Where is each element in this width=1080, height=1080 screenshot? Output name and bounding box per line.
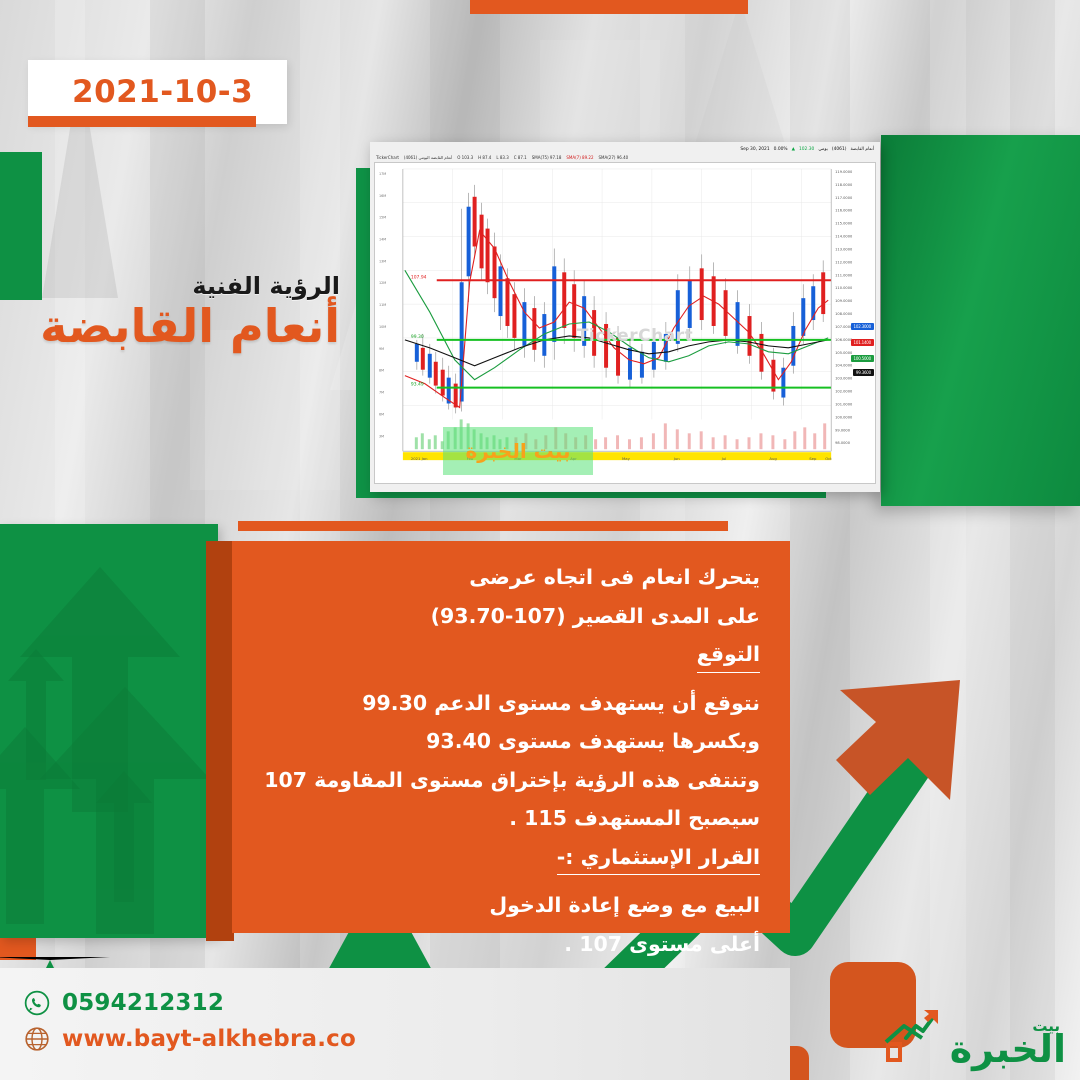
analysis-line: يتحرك انعام فى اتجاه عرضى <box>262 567 760 588</box>
svg-text:117.0000: 117.0000 <box>835 196 853 200</box>
svg-text:118.0000: 118.0000 <box>835 183 853 187</box>
forecast-line: نتوقع أن يستهدف مستوى الدعم 99.30 <box>262 693 760 714</box>
forecast-line: وبكسرها يستهدف مستوى 93.40 <box>262 731 760 752</box>
chart-sma27-value: SMA(27) 96.40 <box>599 155 629 160</box>
svg-text:6M: 6M <box>379 412 384 416</box>
svg-text:Aug: Aug <box>769 456 777 461</box>
svg-text:7M: 7M <box>379 391 384 395</box>
bayt-alkhebra-chart-watermark: بيت الخبرة <box>443 427 593 475</box>
svg-text:112.0000: 112.0000 <box>835 260 853 264</box>
svg-text:101.0000: 101.0000 <box>835 402 853 406</box>
svg-text:10M: 10M <box>379 325 386 329</box>
date-badge-label: 2021-10-3 <box>72 74 253 110</box>
chart-high-value: H 87.4 <box>478 155 491 160</box>
analysis-line: على المدى القصير (107-93.70) <box>262 606 760 627</box>
bg-rectangle <box>190 330 340 490</box>
svg-text:104.0000: 104.0000 <box>835 364 853 368</box>
up-arrow-decoration <box>8 646 64 786</box>
chart-source-label: TickerChart <box>376 155 399 160</box>
headline-subtitle: الرؤية الفنية <box>40 272 340 300</box>
resistance-value-label: 107.94 <box>411 274 427 280</box>
up-arrow-decoration <box>96 768 152 908</box>
page-title: أنعام القابضة <box>40 302 340 352</box>
chart-last-price: 102.30 <box>799 147 814 152</box>
svg-text:11M: 11M <box>379 303 386 307</box>
globe-icon <box>24 1026 50 1052</box>
price-flag-sma27: 100.5000 <box>851 355 875 362</box>
svg-text:100.0000: 100.0000 <box>835 415 853 419</box>
svg-text:102.0000: 102.0000 <box>835 390 853 394</box>
svg-text:113.0000: 113.0000 <box>835 247 853 251</box>
svg-text:Jul: Jul <box>721 456 727 461</box>
chart-change-pct: 0.00% <box>774 147 788 152</box>
whatsapp-icon <box>24 990 50 1016</box>
svg-text:16M: 16M <box>379 194 386 198</box>
svg-text:115.0000: 115.0000 <box>835 222 853 226</box>
logo-text-block: بيت الخبرة <box>950 1020 1066 1066</box>
decision-line: البيع مع وضع إعادة الدخول <box>262 895 760 916</box>
support-1-value-label: 99.30 <box>411 334 424 340</box>
svg-text:Oct: Oct <box>825 456 832 461</box>
svg-text:2021 Jan: 2021 Jan <box>411 456 428 461</box>
bg-triangle <box>690 0 790 160</box>
svg-text:111.0000: 111.0000 <box>835 273 853 277</box>
svg-text:15M: 15M <box>379 216 386 220</box>
forecast-line: سيصبح المستهدف 115 . <box>262 808 760 829</box>
svg-text:116.0000: 116.0000 <box>835 209 853 213</box>
chart-plot-area: 107.94 99.30 93.49 <box>374 162 876 484</box>
contact-website-row[interactable]: www.bayt-alkhebra.co <box>24 1026 356 1052</box>
phone-number: 0594212312 <box>62 990 224 1016</box>
decision-header: القرار الإستثماري :- <box>557 847 760 876</box>
svg-text:110.0000: 110.0000 <box>835 286 853 290</box>
price-flag-sma75: 99.3600 <box>853 369 874 376</box>
date-badge-box: 2021-10-3 <box>28 60 287 124</box>
decision-header-row: القرار الإستثماري :- <box>262 847 760 880</box>
panel-left-dark-strip <box>206 541 234 941</box>
chart-ohlc-label: أنعام القابضة اليومي (4061) <box>404 155 452 160</box>
svg-text:105.0000: 105.0000 <box>835 351 853 355</box>
support-2-value-label: 93.49 <box>411 382 424 388</box>
brand-logo: بيت الخبرة <box>882 1008 1066 1066</box>
watermark-text: بيت الخبرة <box>443 427 593 475</box>
decision-line: أعلى مستوى 107 . <box>262 934 760 955</box>
svg-text:Jun: Jun <box>673 456 681 461</box>
svg-text:114.0000: 114.0000 <box>835 235 853 239</box>
svg-text:8M: 8M <box>379 369 384 373</box>
contact-block: 0594212312 www.bayt-alkhebra.co <box>24 990 356 1062</box>
chart-low-value: L 83.3 <box>496 155 508 160</box>
top-orange-bar <box>470 0 748 14</box>
price-flag-sma7: 101.1400 <box>851 339 875 346</box>
forecast-line: وتنتفى هذه الرؤية بإختراق مستوى المقاومة… <box>262 770 760 791</box>
chart-toolbar: TickerChart أنعام القابضة اليومي (4061) … <box>370 154 880 161</box>
svg-text:13M: 13M <box>379 259 386 263</box>
chart-sma7-value: SMA(7) 89.22 <box>566 155 593 160</box>
analysis-panel: يتحرك انعام فى اتجاه عرضى على المدى القص… <box>232 541 790 933</box>
left-green-tab <box>0 152 42 300</box>
chart-open-value: O 103.3 <box>457 155 473 160</box>
right-green-block <box>881 135 1080 506</box>
svg-text:103.0000: 103.0000 <box>835 377 853 381</box>
house-growth-arrow-icon <box>882 1008 944 1066</box>
chart-screenshot-card: أنعام القابضة (4061) يومي 102.30 ▲ 0.00%… <box>370 142 880 492</box>
price-flag-last: 102.3000 <box>851 323 875 330</box>
chart-close-value: C 87.1 <box>514 155 527 160</box>
forecast-header-row: التوقع <box>262 644 760 677</box>
panel-top-orange-line <box>238 521 728 531</box>
tickerchart-watermark: TickerChart <box>577 326 693 346</box>
svg-text:119.0000: 119.0000 <box>835 170 853 174</box>
svg-text:Sep: Sep <box>809 456 817 461</box>
chart-trend-arrow-icon: ▲ <box>792 147 795 152</box>
logo-word-khebra: الخبرة <box>950 1032 1066 1066</box>
chart-exchange-code: (4061) <box>832 147 847 152</box>
left-green-arrow-panel <box>0 524 218 938</box>
chart-interval: يومي <box>818 147 828 152</box>
svg-text:109.0000: 109.0000 <box>835 299 853 303</box>
headline-block: الرؤية الفنية أنعام القابضة <box>40 272 340 352</box>
svg-text:3M: 3M <box>379 434 384 438</box>
website-url: www.bayt-alkhebra.co <box>62 1026 356 1052</box>
svg-text:17M: 17M <box>379 172 386 176</box>
date-badge: 2021-10-3 <box>28 60 287 124</box>
svg-text:12M: 12M <box>379 281 386 285</box>
svg-text:14M: 14M <box>379 238 386 242</box>
svg-text:May: May <box>622 456 631 461</box>
chart-sma75-value: SMA(75) 97.18 <box>532 155 562 160</box>
forecast-header: التوقع <box>697 644 760 673</box>
svg-text:98.0000: 98.0000 <box>835 441 851 445</box>
svg-text:108.0000: 108.0000 <box>835 312 853 316</box>
contact-phone-row[interactable]: 0594212312 <box>24 990 356 1016</box>
chart-symbol-name: أنعام القابضة <box>850 147 874 152</box>
date-badge-underline <box>28 116 256 127</box>
svg-text:99.0000: 99.0000 <box>835 428 851 432</box>
chart-date: Sep 30, 2021 <box>740 147 769 152</box>
chart-header: أنعام القابضة (4061) يومي 102.30 ▲ 0.00%… <box>370 142 880 154</box>
svg-text:9M: 9M <box>379 347 384 351</box>
